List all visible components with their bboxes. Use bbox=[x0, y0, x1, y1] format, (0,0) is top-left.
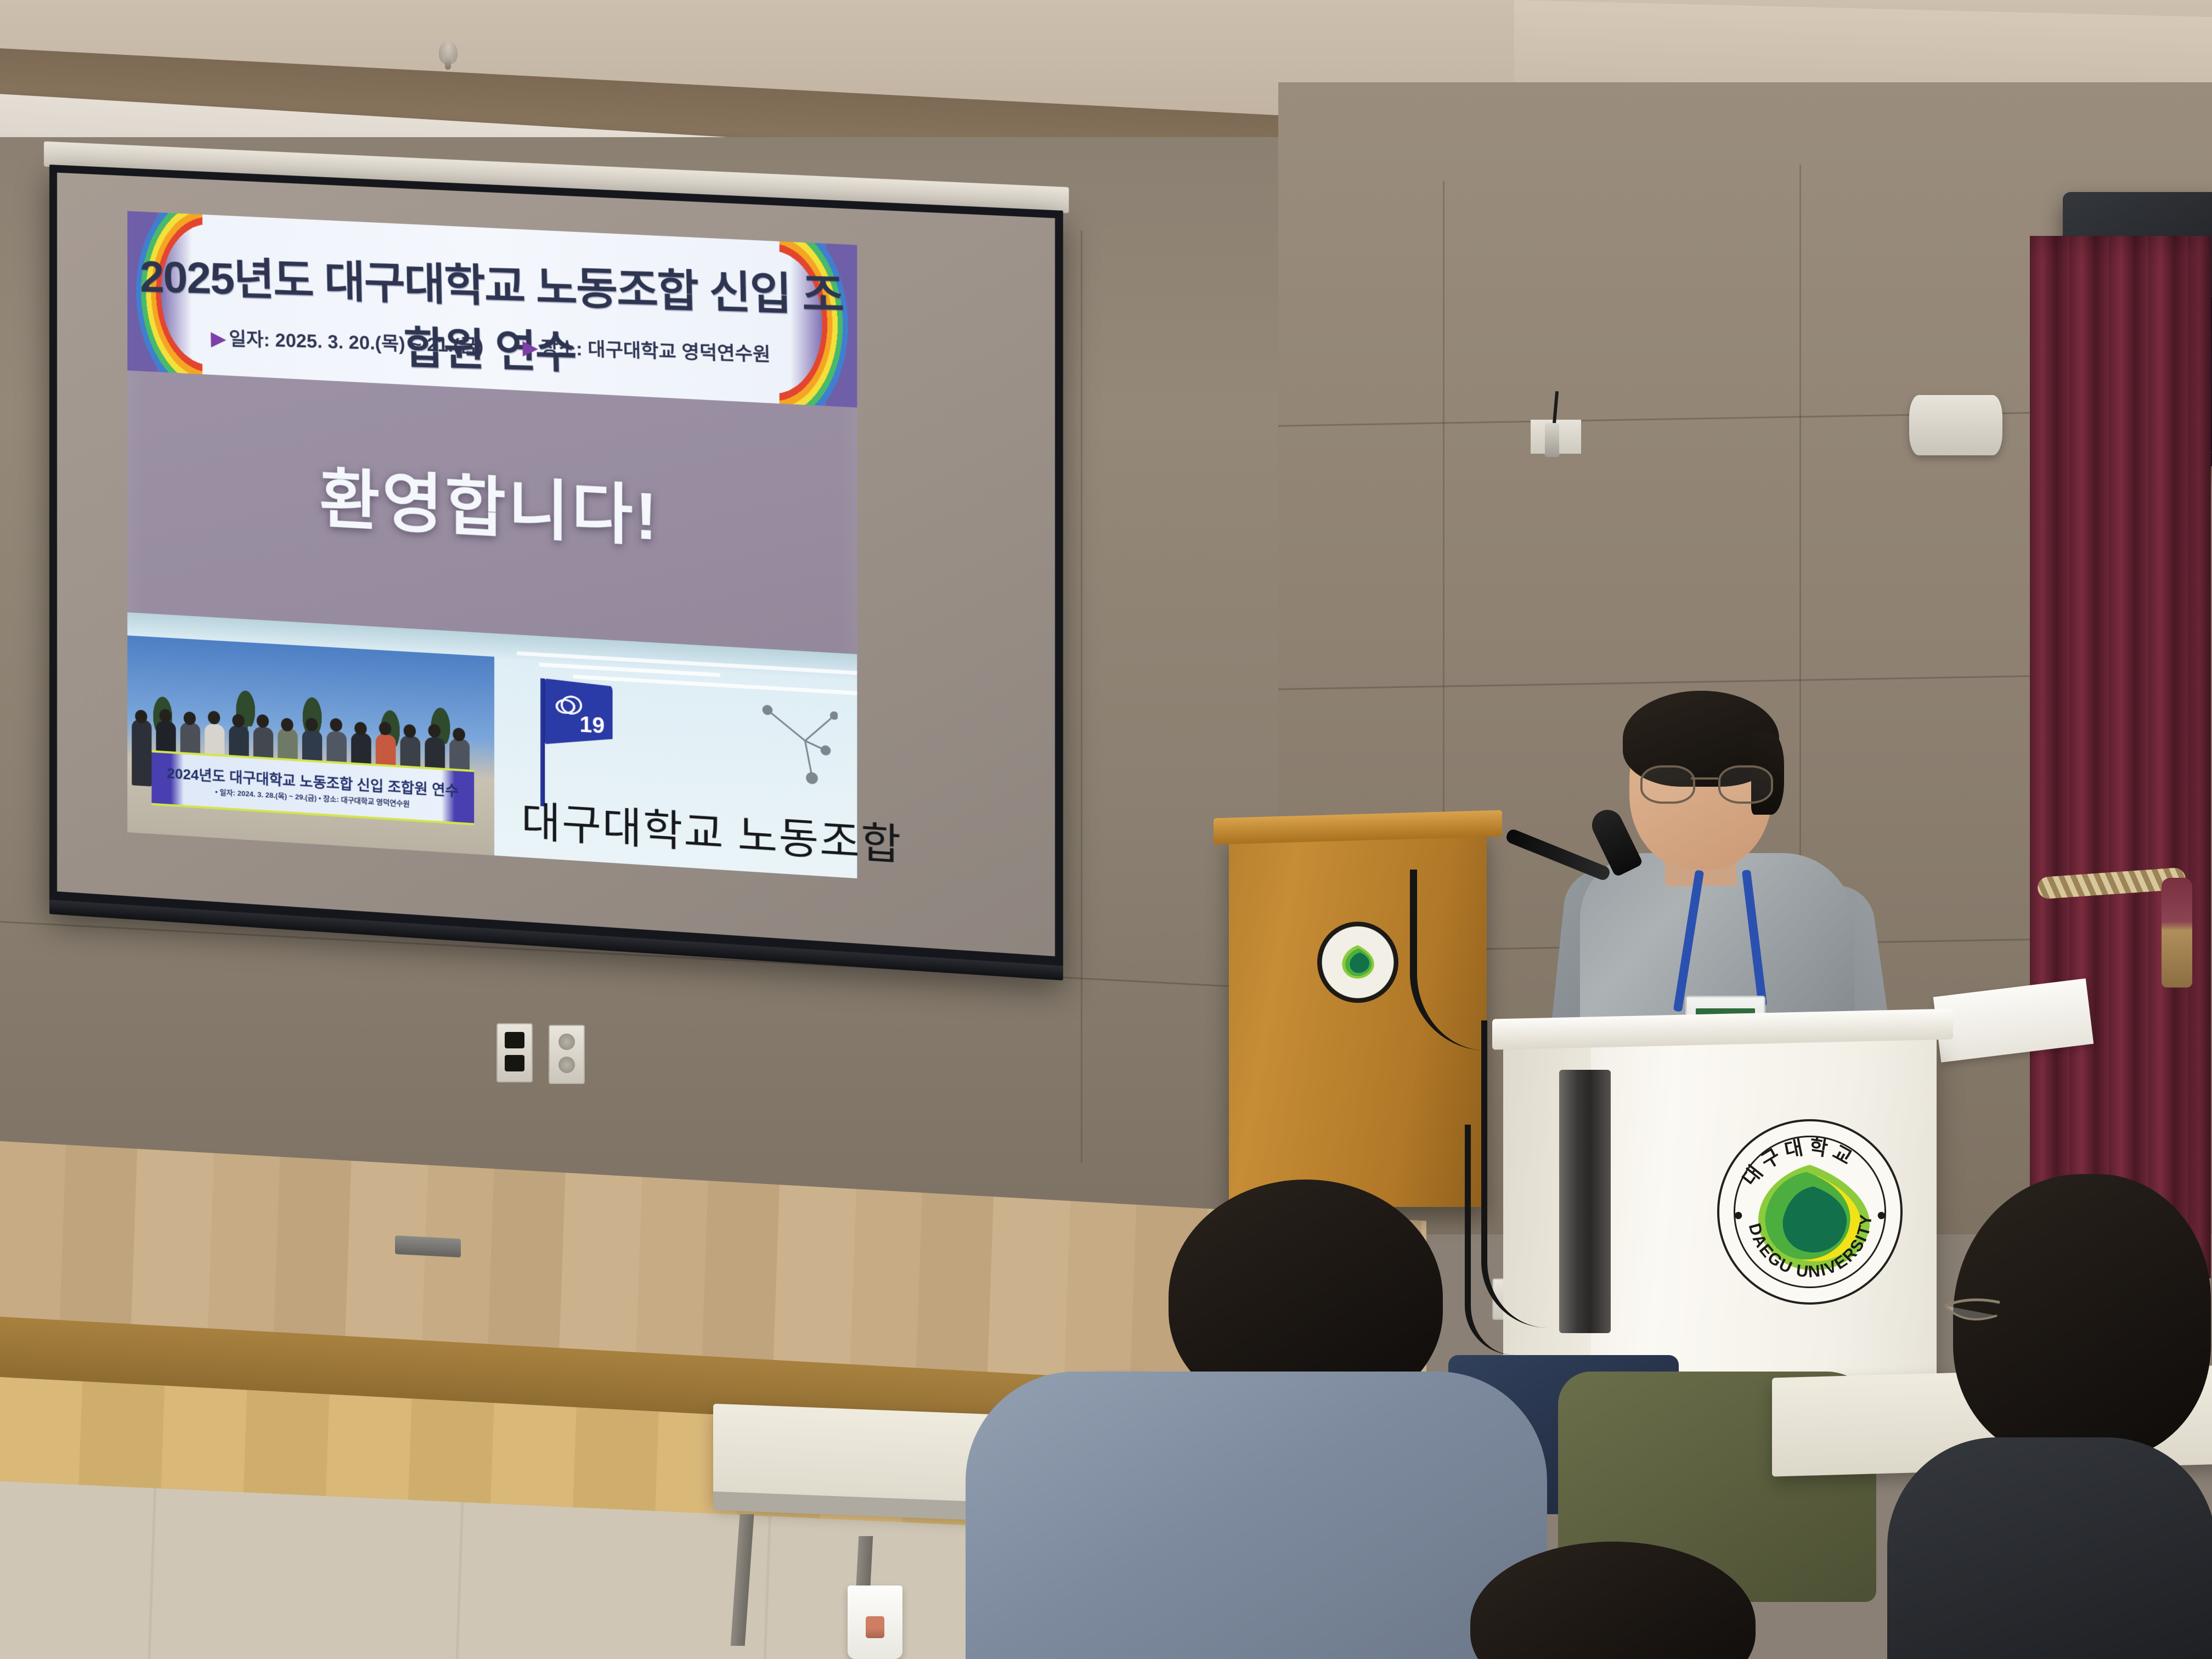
glasses-bridge bbox=[1691, 777, 1718, 780]
audience-shoulders bbox=[966, 1372, 1547, 1659]
union-branding: 19 대구 bbox=[511, 658, 857, 878]
emblem-graphics: 대구대학교 DAEGU UNIVERSITY 1956 bbox=[1719, 1121, 1900, 1302]
svg-text:대구대학교: 대구대학교 bbox=[1329, 926, 1374, 945]
university-emblem: 대구대학교 DAEGU UNIVERSITY 1956 bbox=[1717, 1119, 1903, 1305]
wall-panel-line bbox=[1081, 230, 1082, 1163]
curtain-tassel bbox=[2162, 878, 2192, 988]
wall-data-plate[interactable] bbox=[496, 1023, 533, 1082]
eyeglasses-icon bbox=[1942, 1284, 2046, 1344]
projection-screen: 2025년도 대구대학교 노동조합 신입 조합원 연수 ▶일자: 2025. 3… bbox=[49, 165, 1063, 977]
emblem-ring-text: 대구대학교 DAEGU UNIVERSITY 1956 LOVE LIGHT F… bbox=[1317, 922, 1398, 1003]
floor-outlet-box[interactable] bbox=[395, 1235, 461, 1257]
cup-graphic bbox=[866, 1616, 884, 1638]
slide-bottom-section: 2024년도 대구대학교 노동조합 신입 조합원 연수 ▪ 일자: 2024. … bbox=[127, 612, 857, 878]
audience-shoulders bbox=[1887, 1437, 2212, 1659]
eyeglasses-icon bbox=[1640, 765, 1769, 799]
triangle-marker-icon: ▶ bbox=[211, 328, 226, 349]
lens-right bbox=[1718, 765, 1773, 804]
sprinkler-head-icon bbox=[439, 41, 458, 64]
union-flag-icon: 19 bbox=[545, 679, 612, 748]
welcome-message: 환영합니다! bbox=[127, 435, 857, 569]
molecule-decoration-icon bbox=[752, 696, 838, 791]
outlet-socket[interactable] bbox=[558, 1057, 575, 1073]
outlet-socket[interactable] bbox=[558, 1034, 575, 1050]
screen-frame: 2025년도 대구대학교 노동조합 신입 조합원 연수 ▶일자: 2025. 3… bbox=[49, 165, 1063, 977]
wall-power-outlet[interactable] bbox=[549, 1025, 585, 1084]
university-emblem-dark: 대구대학교 DAEGU UNIVERSITY 1956 LOVE LIGHT F… bbox=[1317, 922, 1398, 1003]
slide-title: 2025년도 대구대학교 노동조합 신입 조합원 연수 bbox=[127, 240, 857, 390]
photo-scene: EV 2025년도 대구대학교 노동조합 신입 조합원 연수 bbox=[0, 0, 2212, 1659]
lens-left bbox=[1640, 765, 1695, 804]
screen-surface: 2025년도 대구대학교 노동조합 신입 조합원 연수 ▶일자: 2025. 3… bbox=[57, 173, 1055, 956]
flag-number: 19 bbox=[579, 712, 605, 738]
triangle-marker-icon: ▶ bbox=[522, 337, 538, 358]
wood-emblem-top-text: 대구대학교 bbox=[1329, 926, 1374, 945]
lectern-equipment-slot[interactable] bbox=[1559, 1070, 1611, 1333]
jack-port[interactable] bbox=[505, 1055, 524, 1071]
projected-slide: 2025년도 대구대학교 노동조합 신입 조합원 연수 ▶일자: 2025. 3… bbox=[127, 211, 857, 879]
window-curtain bbox=[2030, 236, 2211, 1278]
antenna-icon bbox=[1531, 420, 1581, 454]
power-cable-run bbox=[1465, 1125, 1520, 1355]
jack-port[interactable] bbox=[505, 1032, 524, 1048]
flag-pole bbox=[540, 678, 545, 806]
ceiling-wall-speaker bbox=[1909, 395, 2002, 455]
group-photo: 2024년도 대구대학교 노동조합 신입 조합원 연수 ▪ 일자: 2024. … bbox=[127, 635, 494, 855]
paper-cup[interactable] bbox=[848, 1585, 902, 1659]
union-name: 대구대학교 노동조합 bbox=[521, 787, 902, 872]
slide-middle-section: 환영합니다! bbox=[127, 370, 857, 654]
